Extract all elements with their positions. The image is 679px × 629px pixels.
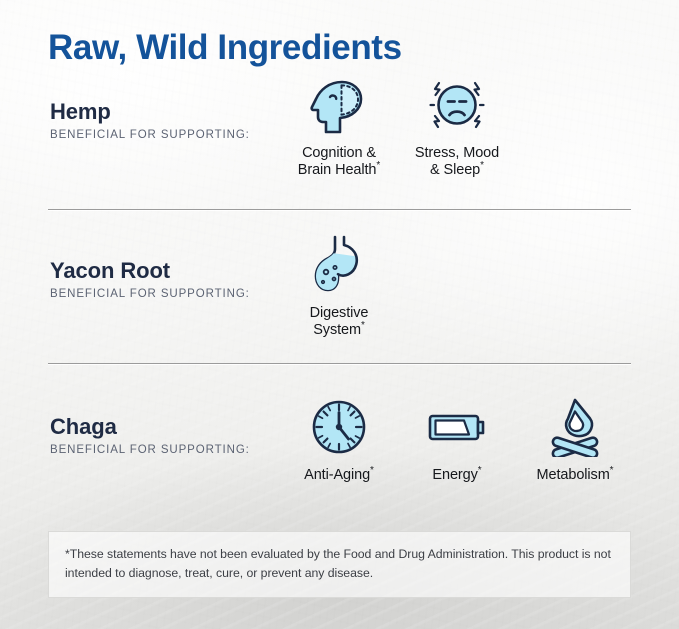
benefit-caption-line1: Energy [432,467,477,483]
asterisk: * [480,160,484,171]
stomach-icon [280,234,398,296]
hemp-benefits-row: Cognition & Brain Health* [280,74,516,179]
asterisk: * [610,465,614,476]
benefit-caption-line2: Brain Health [298,162,377,178]
ingredient-subtitle-yacon-root: BENEFICIAL FOR SUPPORTING: [50,287,250,301]
benefit-caption: Energy* [398,467,516,484]
benefit-metabolism: Metabolism* [516,396,634,484]
divider-2 [48,363,631,364]
yacon-label-group: Yacon Root BENEFICIAL FOR SUPPORTING: [50,258,250,301]
ingredient-subtitle-hemp: BENEFICIAL FOR SUPPORTING: [50,128,250,142]
stressed-face-icon [398,74,516,136]
page-title: Raw, Wild Ingredients [48,24,402,72]
benefit-energy: Energy* [398,396,516,484]
clock-icon [280,396,398,458]
benefit-digestive-system: Digestive System* [280,234,398,339]
asterisk: * [370,465,374,476]
benefit-stress-mood-sleep: Stress, Mood & Sleep* [398,74,516,179]
benefit-caption-line2: & Sleep [430,162,480,178]
benefit-caption-line1: Anti-Aging [304,467,370,483]
benefit-caption-line2: System [313,322,361,338]
ingredient-name-chaga: Chaga [50,414,250,440]
benefit-caption: Stress, Mood & Sleep* [398,145,516,179]
campfire-icon [516,396,634,458]
benefit-caption-line1: Stress, Mood [415,145,499,161]
benefit-caption: Digestive System* [280,305,398,339]
battery-icon [398,396,516,458]
asterisk: * [376,160,380,171]
disclaimer-text: *These statements have not been evaluate… [65,545,614,583]
ingredient-subtitle-chaga: BENEFICIAL FOR SUPPORTING: [50,443,250,457]
ingredient-name-hemp: Hemp [50,99,250,125]
chaga-label-group: Chaga BENEFICIAL FOR SUPPORTING: [50,414,250,457]
benefit-caption: Cognition & Brain Health* [280,145,398,179]
benefit-caption-line1: Cognition & [302,145,376,161]
ingredient-name-yacon-root: Yacon Root [50,258,250,284]
asterisk: * [361,320,365,331]
brain-head-icon [280,74,398,136]
divider-1 [48,209,631,210]
asterisk: * [478,465,482,476]
benefit-cognition-brain-health: Cognition & Brain Health* [280,74,398,179]
yacon-benefits-row: Digestive System* [280,234,398,339]
disclaimer-box: *These statements have not been evaluate… [48,531,631,598]
benefit-caption-line1: Metabolism [537,467,610,483]
ingredients-infographic: Raw, Wild Ingredients Hemp BENEFICIAL FO… [0,0,679,629]
benefit-anti-aging: Anti-Aging* [280,396,398,484]
hemp-label-group: Hemp BENEFICIAL FOR SUPPORTING: [50,99,250,142]
chaga-benefits-row: Anti-Aging* Energy* [280,396,634,484]
benefit-caption-line1: Digestive [310,305,369,321]
benefit-caption: Metabolism* [516,467,634,484]
benefit-caption: Anti-Aging* [280,467,398,484]
